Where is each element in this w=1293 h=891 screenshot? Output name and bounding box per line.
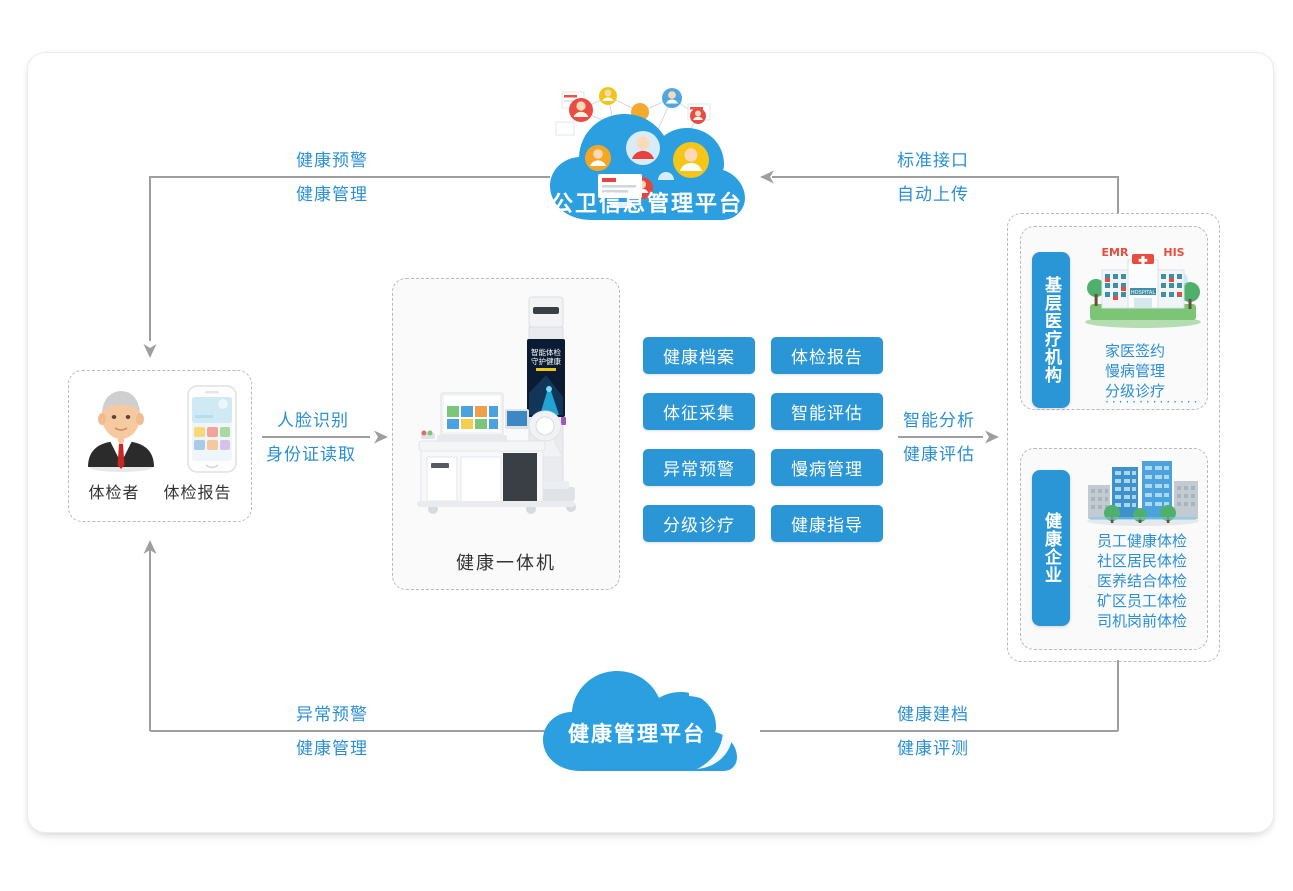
medical-institution-tab[interactable]: 基层医疗机构: [1032, 252, 1070, 408]
smartphone-health-report-icon: [186, 385, 238, 473]
arrow-right-icon: [368, 429, 388, 445]
connector-bottom-right-horizontal: [760, 730, 1118, 732]
connector-bottom-left-vertical: [149, 548, 151, 731]
health-enterprise-item-2: 社区居民体检: [1097, 551, 1187, 571]
office-buildings-icon: [1082, 455, 1204, 531]
health-enterprise-item-3: 医养结合体检: [1097, 571, 1187, 591]
feature-button-smart-assess[interactable]: 智能评估: [771, 393, 883, 430]
svg-text:HOSPITAL: HOSPITAL: [1131, 290, 1155, 296]
examinee-group-box: 体检者 体检报告: [68, 370, 252, 522]
feature-button-exam-report[interactable]: 体检报告: [771, 337, 883, 374]
svg-text:智能体检: 智能体检: [531, 347, 561, 357]
flow-label-top-right-line2: 自动上传: [897, 184, 969, 206]
flow-label-user-kiosk-line1: 人脸识别: [277, 410, 349, 432]
bottom-platform-title: 健康管理平台: [537, 718, 737, 748]
flow-label-bottom-left-line1: 异常预警: [296, 704, 368, 726]
flow-label-bottom-right-line1: 健康建档: [897, 704, 969, 726]
medical-institution-tab-label: 基层医疗机构: [1040, 276, 1062, 384]
feature-button-tiered-care[interactable]: 分级诊疗: [643, 505, 755, 542]
diagram-canvas: 健康预警 健康管理 标准接口 自动上传 人脸识别 身份证读取 智能分析 健康评估…: [0, 0, 1293, 891]
arrow-up-icon: [142, 540, 158, 562]
arrow-down-icon: [142, 336, 158, 358]
elderly-person-avatar-icon: [82, 387, 160, 473]
connector-kiosk-right: [898, 436, 983, 438]
feature-button-health-guidance[interactable]: 健康指导: [771, 505, 883, 542]
top-platform-cloud[interactable]: 公卫信息管理平台: [536, 82, 758, 224]
connector-bottom-right-vertical: [1117, 660, 1119, 731]
his-tag: HIS: [1163, 246, 1184, 259]
connector-top-left-vertical: [149, 176, 151, 341]
flow-label-top-right-line1: 标准接口: [897, 150, 969, 172]
flow-label-top-left-line2: 健康管理: [296, 184, 368, 206]
flow-label-kiosk-right-line1: 智能分析: [903, 410, 975, 432]
feature-button-health-record[interactable]: 健康档案: [643, 337, 755, 374]
health-enterprise-item-4: 矿区员工体检: [1097, 591, 1187, 611]
emr-tag: EMR: [1102, 246, 1129, 259]
hospital-building-icon: HOSPITAL EMR HIS: [1082, 244, 1204, 330]
health-enterprise-item-1: 员工健康体检: [1097, 531, 1187, 551]
health-enterprise-tab[interactable]: 健康企业: [1032, 470, 1070, 626]
health-all-in-one-kiosk-icon: 智能体检 守护健康: [403, 293, 609, 543]
exam-report-label: 体检报告: [164, 479, 232, 503]
kiosk-group-box: 智能体检 守护健康: [392, 278, 620, 590]
flow-label-kiosk-right-line2: 健康评估: [903, 444, 975, 466]
bottom-platform-cloud[interactable]: 健康管理平台: [537, 659, 753, 774]
health-enterprise-item-5: 司机岗前体检: [1097, 611, 1187, 631]
medical-institution-item-2: 慢病管理: [1105, 361, 1165, 381]
flow-label-bottom-left-line2: 健康管理: [296, 738, 368, 760]
connector-top-right-horizontal: [772, 176, 1119, 178]
flow-label-user-kiosk-line2: 身份证读取: [266, 444, 356, 466]
arrow-left-icon: [760, 169, 782, 185]
arrow-right-icon: [979, 429, 999, 445]
svg-text:守护健康: 守护健康: [531, 356, 561, 366]
feature-button-grid: 健康档案 体检报告 体征采集 智能评估 异常预警 慢病管理 分级诊疗 健康指导: [643, 337, 883, 542]
feature-button-anomaly-alert[interactable]: 异常预警: [643, 449, 755, 486]
medical-institution-trailing-dots: ··············: [1105, 395, 1200, 409]
health-enterprise-tab-label: 健康企业: [1040, 512, 1062, 584]
kiosk-caption: 健康一体机: [393, 549, 619, 575]
connector-top-left-horizontal: [150, 176, 550, 178]
connector-user-kiosk: [262, 436, 370, 438]
flow-label-top-left-line1: 健康预警: [296, 150, 368, 172]
examinee-label: 体检者: [88, 479, 139, 503]
feature-button-chronic-care[interactable]: 慢病管理: [771, 449, 883, 486]
connector-top-right-vertical: [1117, 176, 1119, 214]
connector-bottom-left-horizontal: [150, 730, 545, 732]
medical-institution-item-1: 家医签约: [1105, 341, 1165, 361]
feature-button-vitals-capture[interactable]: 体征采集: [643, 393, 755, 430]
flow-label-bottom-right-line2: 健康评测: [897, 738, 969, 760]
top-platform-title: 公卫信息管理平台: [536, 186, 758, 218]
